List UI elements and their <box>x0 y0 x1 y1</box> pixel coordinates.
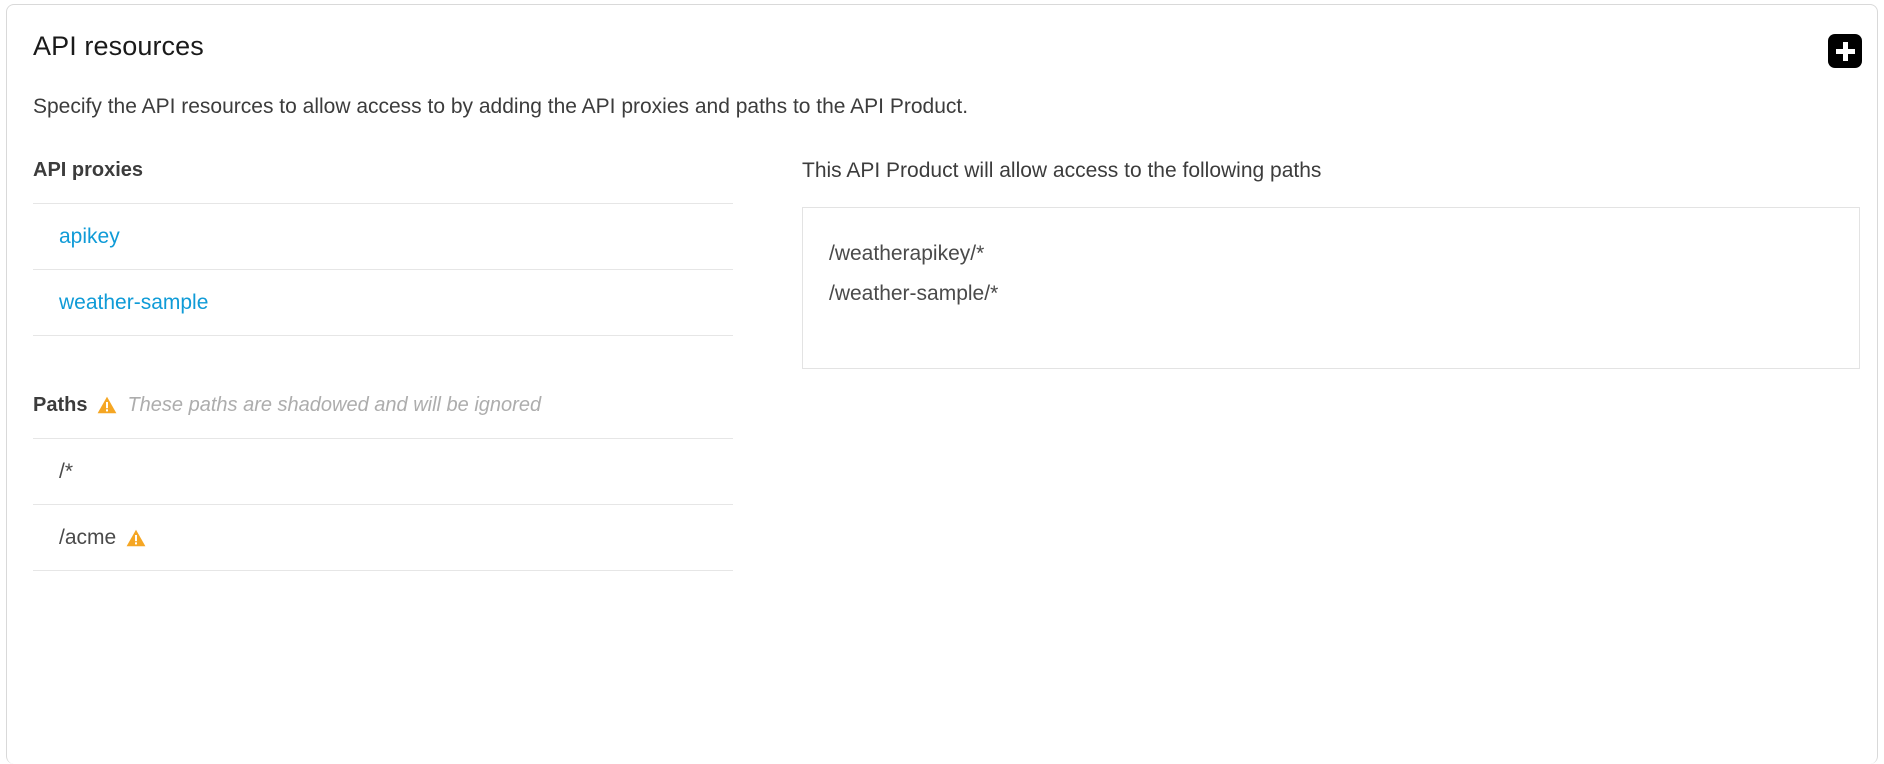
api-proxies-label: API proxies <box>33 157 143 183</box>
plus-icon-vertical <box>1843 42 1848 61</box>
warning-triangle-icon <box>97 396 117 414</box>
section-spacer <box>33 336 733 392</box>
right-column: This API Product will allow access to th… <box>802 157 1860 369</box>
warning-triangle-icon <box>126 529 146 547</box>
card-header: API resources <box>7 5 1877 85</box>
add-resource-button[interactable] <box>1828 34 1862 68</box>
list-item[interactable]: /* <box>33 439 733 505</box>
page-title: API resources <box>33 29 204 63</box>
path-value: /* <box>59 459 73 485</box>
allowed-paths-box: /weatherapikey/* /weather-sample/* <box>802 207 1860 369</box>
left-column: API proxies apikey weather-sample Paths … <box>33 157 733 571</box>
allowed-path-value: /weatherapikey/* <box>829 234 1859 274</box>
paths-shadowed-note: These paths are shadowed and will be ign… <box>127 392 541 418</box>
allowed-path-value: /weather-sample/* <box>829 274 1859 314</box>
list-item[interactable]: /acme <box>33 505 733 571</box>
api-proxy-link[interactable]: weather-sample <box>59 290 208 316</box>
api-proxies-list: apikey weather-sample <box>33 203 733 336</box>
api-resources-card: API resources Specify the API resources … <box>6 4 1878 764</box>
paths-list: /* /acme <box>33 438 733 571</box>
allowed-paths-label: This API Product will allow access to th… <box>802 157 1860 185</box>
paths-label: Paths <box>33 392 87 418</box>
list-item[interactable]: weather-sample <box>33 270 733 336</box>
path-value: /acme <box>59 525 116 551</box>
api-proxy-link[interactable]: apikey <box>59 224 120 250</box>
paths-heading: Paths These paths are shadowed and will … <box>33 392 733 418</box>
card-description: Specify the API resources to allow acces… <box>33 93 968 121</box>
api-proxies-heading: API proxies <box>33 157 733 183</box>
list-item[interactable]: apikey <box>33 204 733 270</box>
